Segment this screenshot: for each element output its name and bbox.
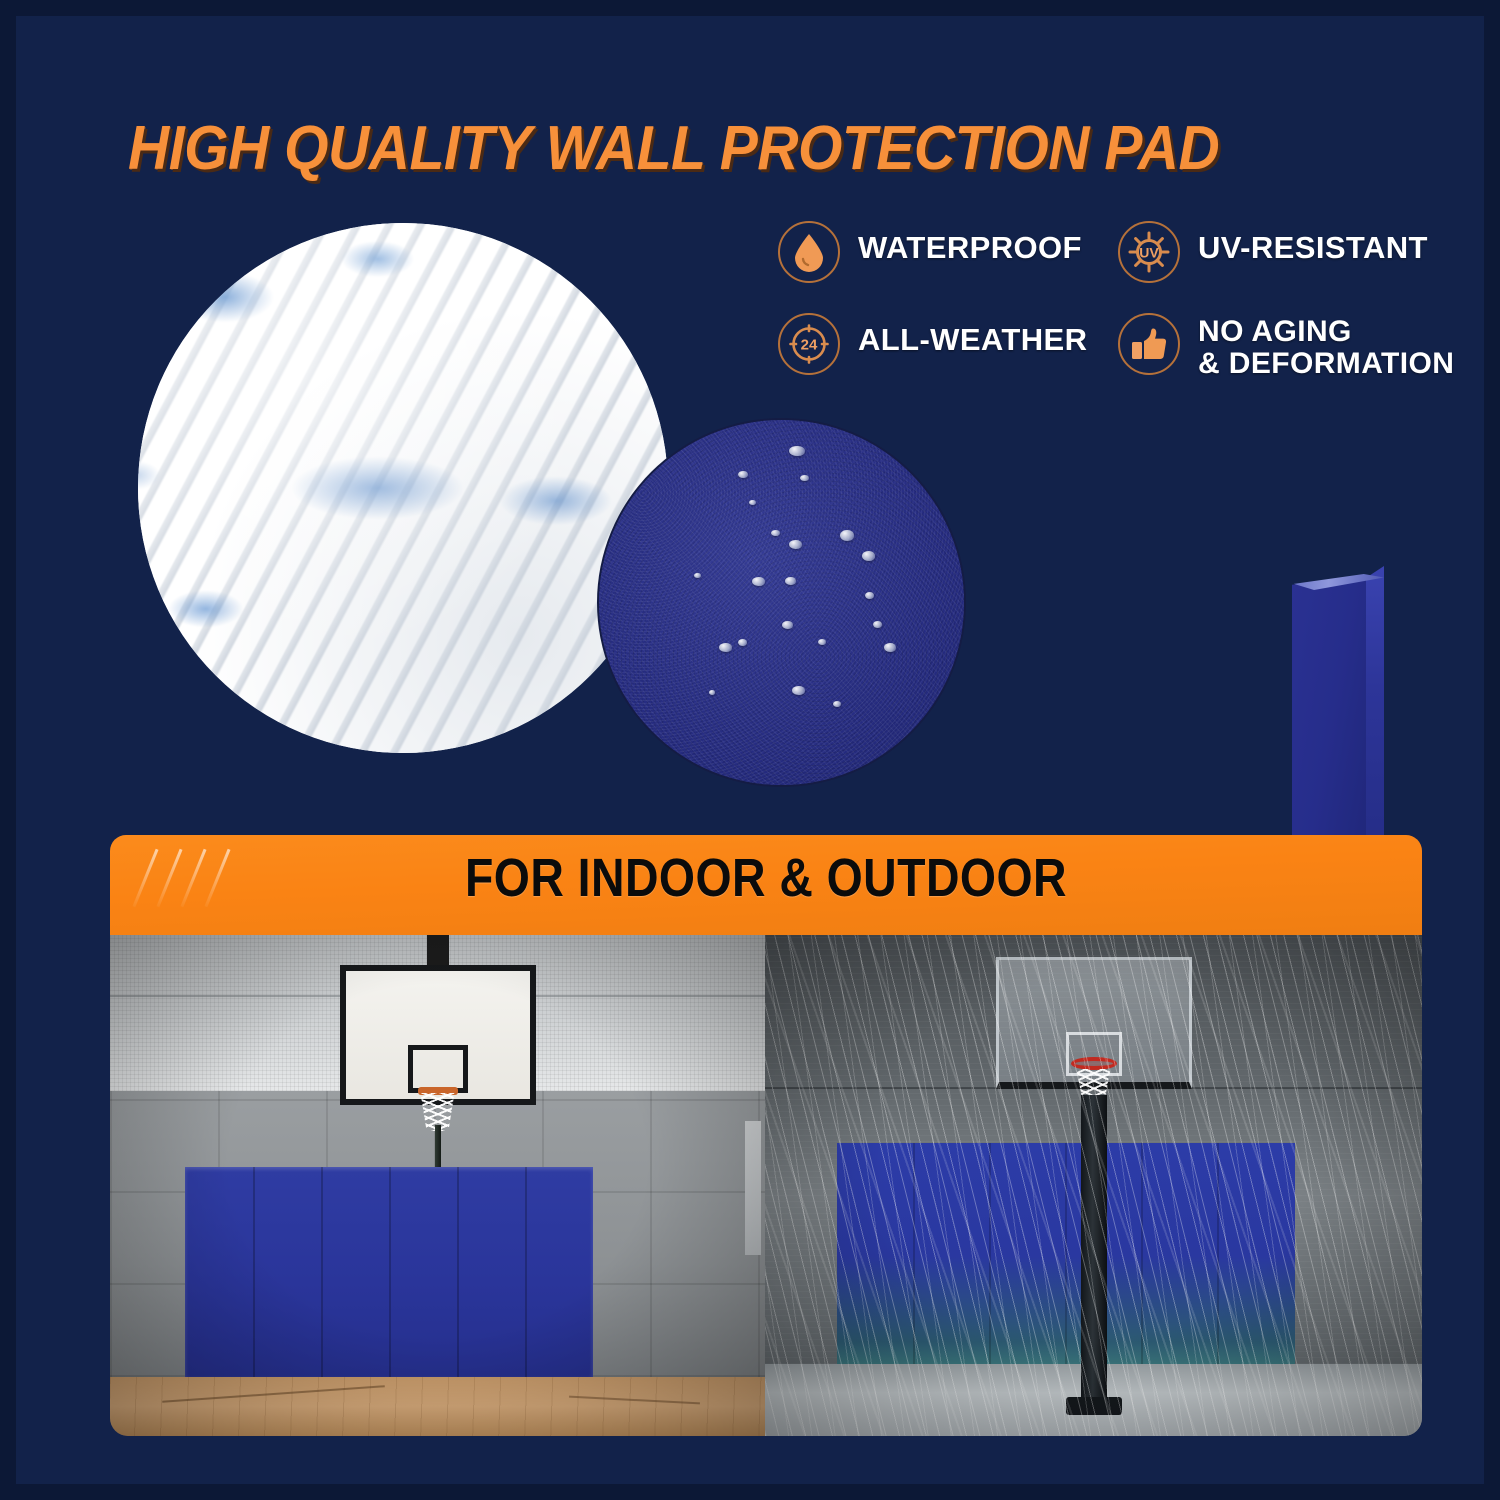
water-droplet — [785, 577, 796, 585]
water-droplet — [865, 592, 874, 599]
indoor-backboard — [340, 965, 536, 1105]
gym-wood-floor — [110, 1377, 765, 1436]
water-droplet — [709, 690, 715, 695]
water-droplet — [873, 621, 882, 628]
water-droplet — [738, 471, 748, 478]
outdoor-hoop-pole — [1081, 1095, 1107, 1405]
water-droplet — [800, 475, 809, 481]
vinyl-texture-pattern — [599, 420, 964, 785]
page-title: HIGH QUALITY WALL PROTECTION PAD — [128, 113, 1219, 184]
thumbs-up-icon — [1118, 313, 1180, 375]
feature-uv-resistant: UV UV-RESISTANT — [1118, 221, 1478, 283]
backboard-target-square — [408, 1045, 468, 1093]
svg-text:24: 24 — [801, 337, 818, 354]
scene-photo-panel — [110, 935, 1422, 1436]
feature-label: ALL-WEATHER — [858, 313, 1087, 357]
vinyl-droplets-photo — [599, 420, 964, 785]
feature-waterproof: WATERPROOF — [778, 221, 1118, 283]
water-droplet — [840, 530, 854, 541]
feature-no-aging-deformation: NO AGING & DEFORMATION — [1118, 313, 1478, 380]
water-drop-icon — [778, 221, 840, 283]
indoor-wall-pad — [185, 1167, 593, 1377]
outdoor-scene-photo — [765, 935, 1422, 1436]
feature-list: WATERPROOF UV — [778, 221, 1478, 405]
water-droplet — [789, 446, 805, 456]
svg-text:UV: UV — [1139, 245, 1159, 261]
outdoor-wall-pad — [837, 1143, 1295, 1369]
clock-24-icon: 24 — [778, 313, 840, 375]
water-droplet — [749, 500, 756, 505]
foam-texture-photo — [138, 223, 668, 753]
gym-door-frame — [745, 1121, 761, 1255]
water-droplet — [738, 639, 747, 646]
water-droplet — [771, 530, 780, 536]
infographic-root: HIGH QUALITY WALL PROTECTION PAD — [0, 0, 1500, 1500]
outdoor-pole-base — [1066, 1397, 1122, 1415]
water-droplet — [884, 643, 896, 652]
water-droplet — [782, 621, 793, 629]
feature-label: NO AGING & DEFORMATION — [1198, 313, 1454, 380]
outdoor-rim — [1071, 1057, 1117, 1070]
water-droplet — [719, 643, 732, 652]
foam-sheen-overlay — [138, 223, 668, 753]
indoor-scene-photo — [110, 935, 765, 1436]
feature-label: WATERPROOF — [858, 221, 1082, 265]
uv-sun-icon: UV — [1118, 221, 1180, 283]
water-droplet — [862, 551, 875, 561]
feature-label: UV-RESISTANT — [1198, 221, 1428, 265]
banner-label: FOR INDOOR & OUTDOOR — [202, 847, 1330, 909]
water-droplet — [818, 639, 826, 645]
feature-all-weather: 24 ALL-WEATHER — [778, 313, 1118, 375]
indoor-outdoor-banner: FOR INDOOR & OUTDOOR — [110, 835, 1422, 935]
water-droplet — [833, 701, 841, 707]
water-droplet — [789, 540, 802, 549]
water-droplet — [752, 577, 765, 586]
